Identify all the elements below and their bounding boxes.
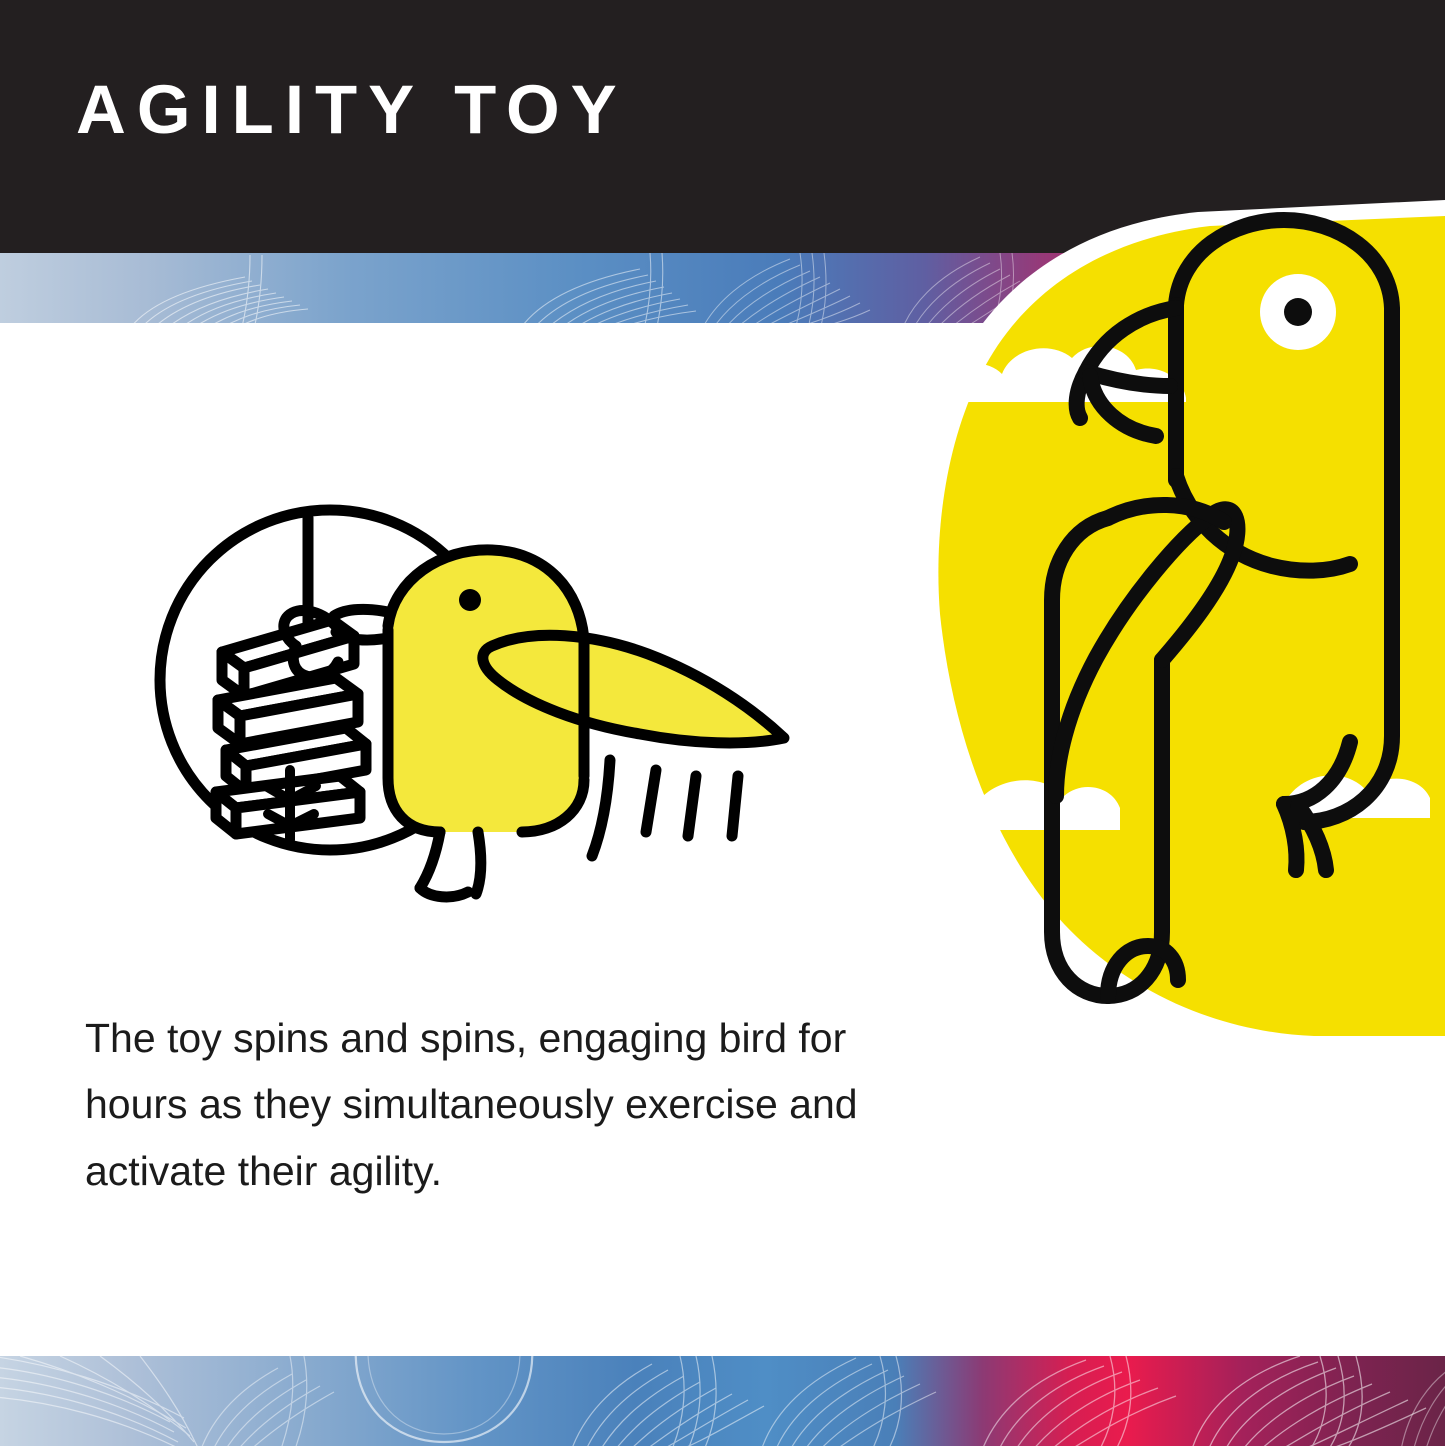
- parrot-illustration-graphic: [880, 190, 1445, 1060]
- motion-lines: [592, 760, 738, 856]
- product-description: The toy spins and spins, engaging bird f…: [85, 1005, 945, 1204]
- bird-with-agility-toy-graphic: [140, 440, 800, 940]
- bird-foot-1: [420, 832, 440, 888]
- parrot-illustration: [880, 190, 1445, 1060]
- feather-band-bottom-graphic: [0, 1356, 1445, 1446]
- feather-band-bottom: [0, 1356, 1445, 1446]
- page-title: AGILITY TOY: [76, 75, 628, 144]
- bird-foot-2: [476, 832, 481, 894]
- parrot-eye-pupil: [1284, 298, 1312, 326]
- bird-with-agility-toy-icon: [140, 440, 800, 940]
- product-feature-card: AGILITY TOY: [0, 0, 1445, 1446]
- bird-eye: [459, 589, 481, 611]
